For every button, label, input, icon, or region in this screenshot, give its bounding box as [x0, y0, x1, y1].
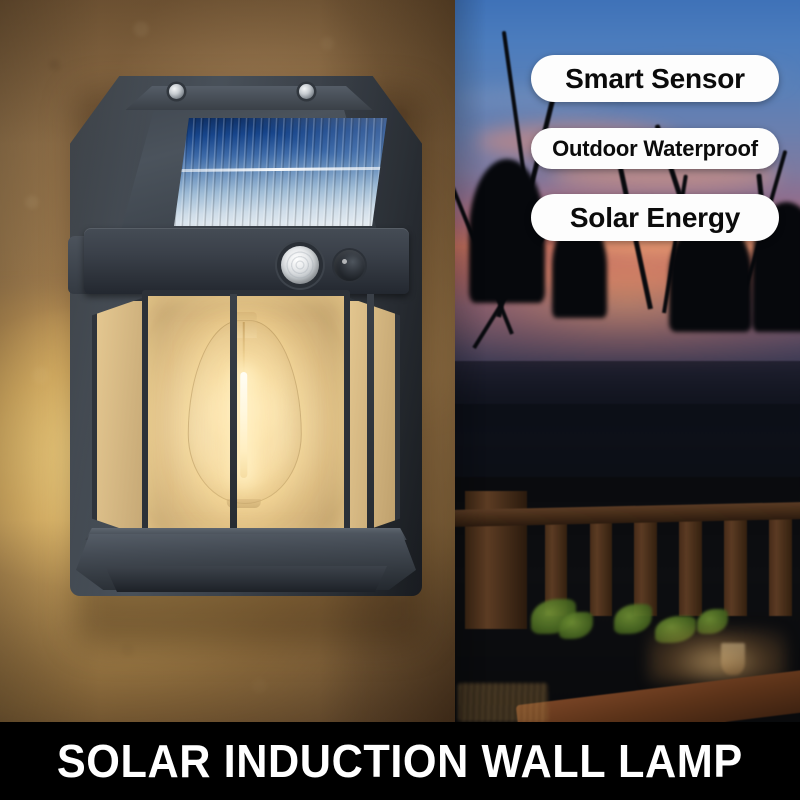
lantern-glass-left [92, 296, 148, 538]
pir-motion-sensor-icon [281, 246, 319, 284]
mounting-screw-right-icon [299, 84, 314, 99]
deck-railing-baluster [724, 518, 747, 616]
solar-panel [174, 118, 387, 226]
foliage-clump-silhouette [469, 159, 545, 303]
deck-railing-baluster [590, 518, 613, 616]
ambient-light-sensor-icon [334, 250, 365, 281]
lantern-glass-front [142, 290, 350, 544]
wicker-chair [458, 683, 548, 722]
bulb-filament-core [240, 372, 247, 478]
product-title: SOLAR INDUCTION WALL LAMP [57, 734, 743, 788]
fixture-base-front [96, 566, 396, 592]
deck-scene [455, 477, 800, 722]
pir-fresnel-lens [285, 250, 315, 280]
feature-pill-solar-energy[interactable]: Solar Energy [531, 194, 779, 241]
deck-railing-baluster [634, 518, 657, 616]
lantern-glass-housing [90, 290, 402, 546]
filament-bulb [188, 312, 300, 508]
mounting-screw-left-icon [169, 84, 184, 99]
feature-pill-label: Smart Sensor [565, 63, 745, 95]
light-sensor-highlight [342, 259, 347, 264]
feature-pill-label: Solar Energy [570, 202, 740, 234]
right-scene-outdoor-sunset: Smart Sensor Outdoor Waterproof Solar En… [455, 0, 800, 722]
bottom-title-banner: SOLAR INDUCTION WALL LAMP [0, 722, 800, 800]
feature-pill-smart-sensor[interactable]: Smart Sensor [531, 55, 779, 102]
solar-panel-sheen [174, 118, 387, 226]
lantern-frame-divider-left [230, 294, 237, 540]
deck-foliage [614, 604, 652, 633]
feature-pill-label: Outdoor Waterproof [552, 136, 758, 162]
table-glassware [721, 643, 745, 675]
solar-wall-lamp-fixture [68, 68, 424, 628]
deck-railing-baluster [679, 518, 702, 616]
deck-railing-baluster [769, 518, 792, 616]
lantern-frame-divider-right [367, 294, 374, 540]
feature-pill-outdoor-waterproof[interactable]: Outdoor Waterproof [531, 128, 779, 169]
left-scene-indoor-wall-lamp [0, 0, 455, 722]
product-marketing-image: Smart Sensor Outdoor Waterproof Solar En… [0, 0, 800, 800]
